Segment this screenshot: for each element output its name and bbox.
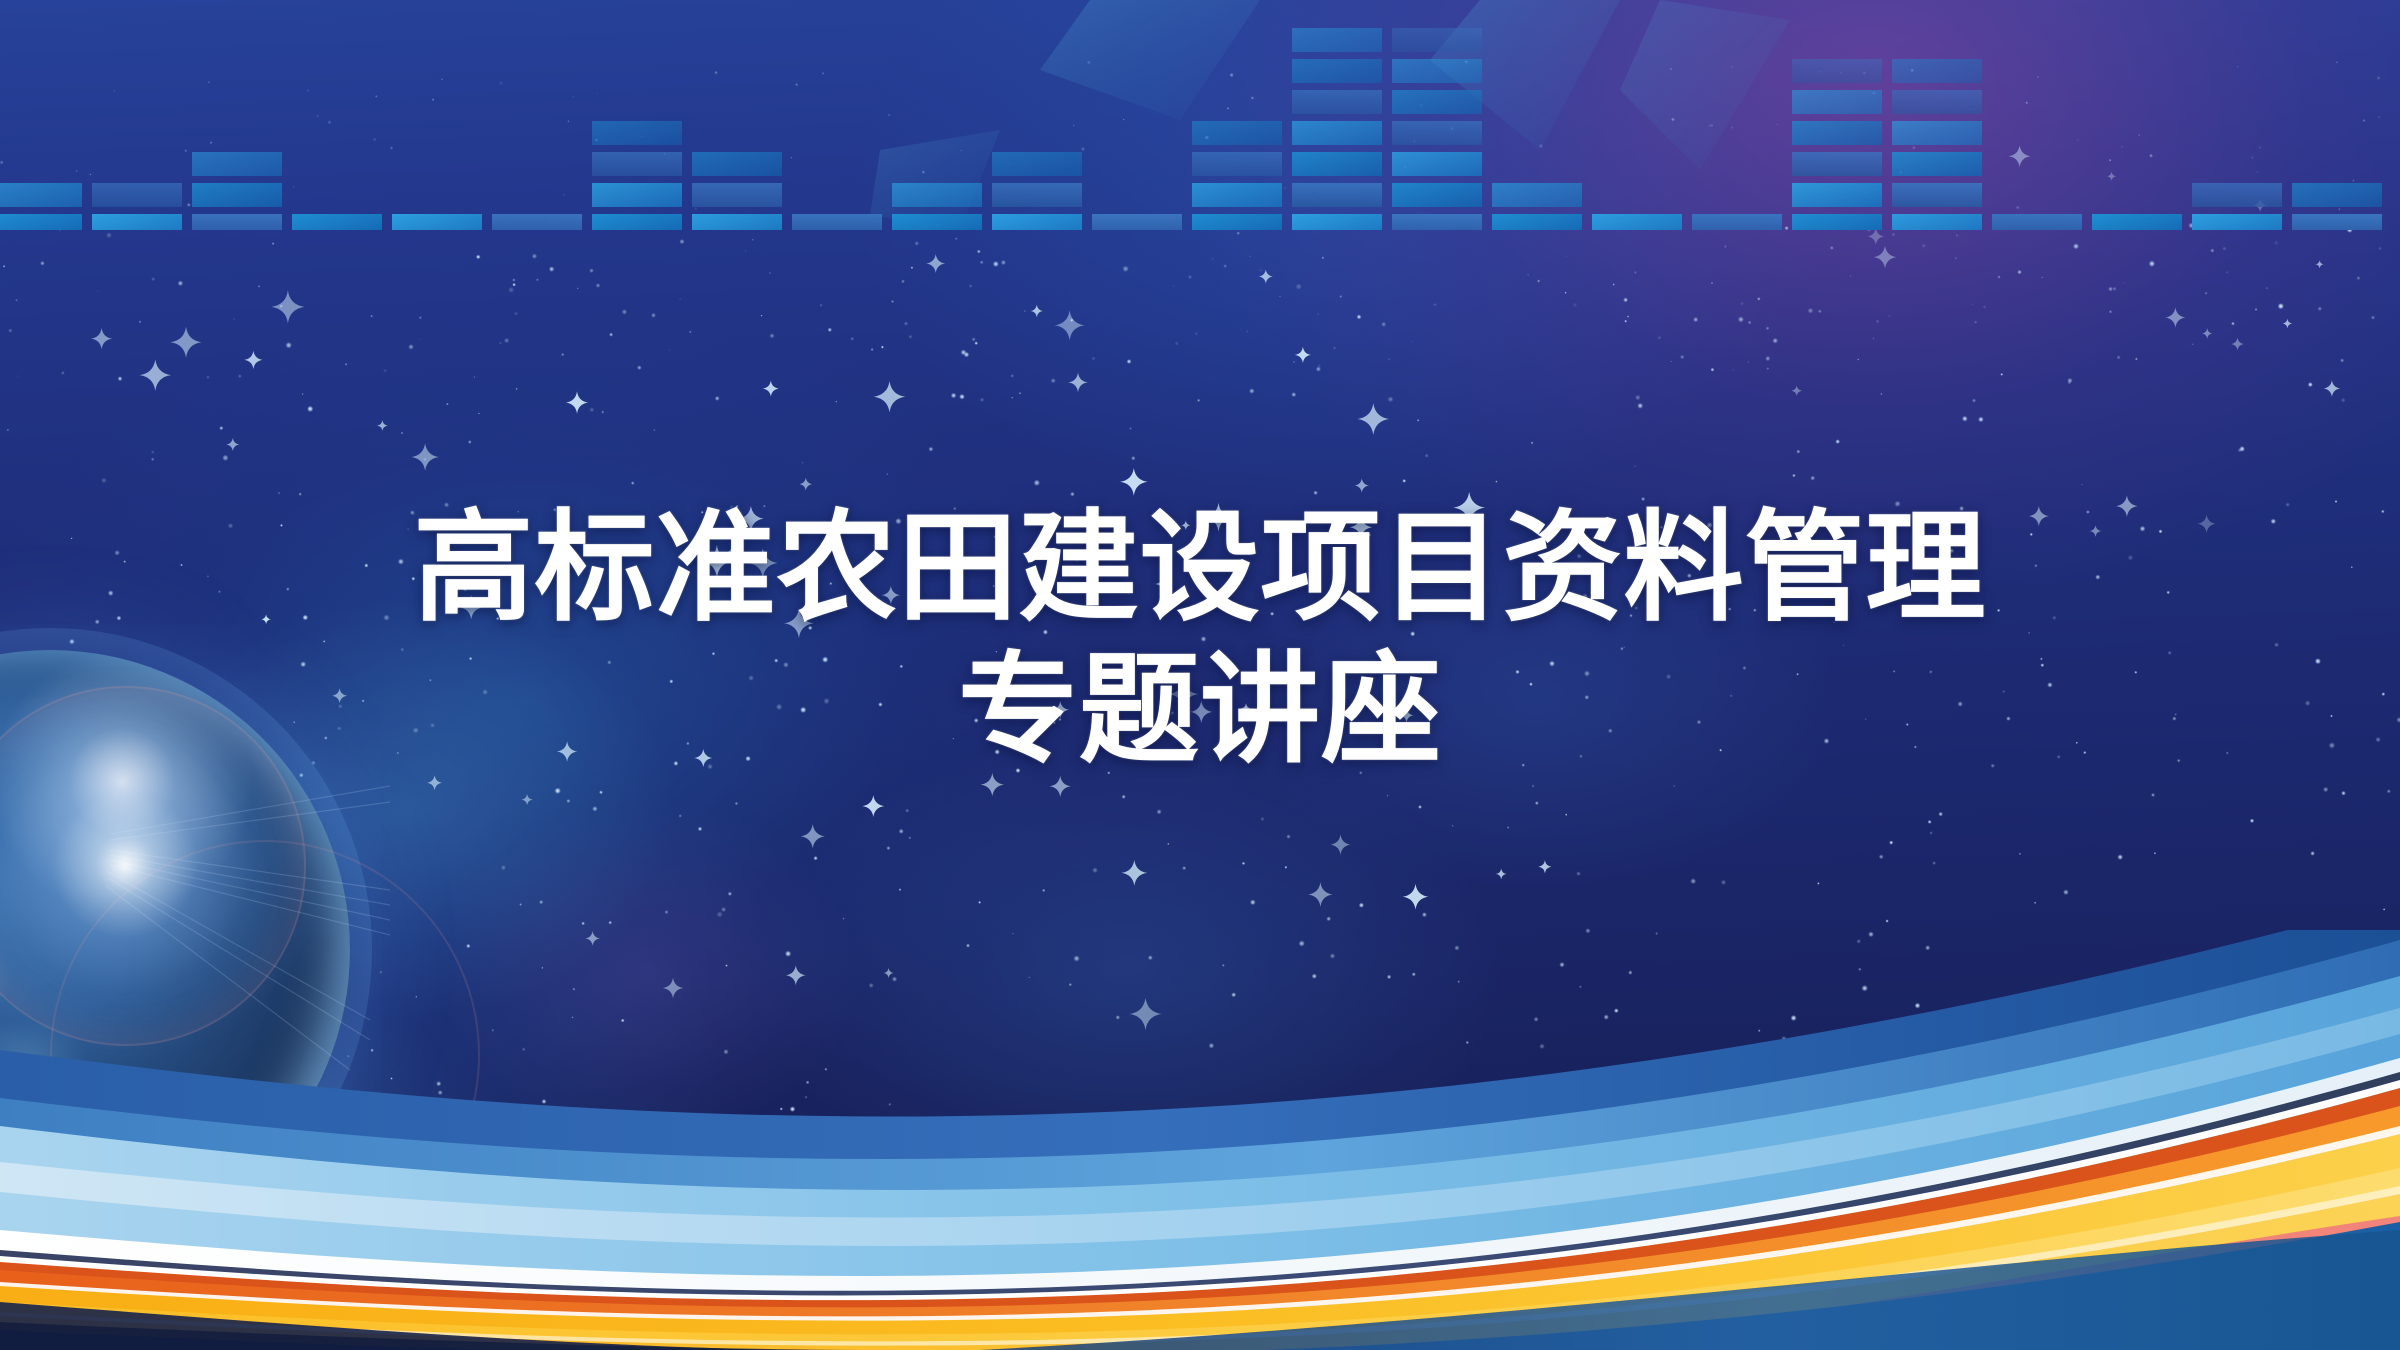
slide-title: 高标准农田建设项目资料管理 专题讲座: [0, 498, 2400, 782]
title-line-2: 专题讲座: [0, 640, 2400, 782]
presentation-slide: 高标准农田建设项目资料管理 专题讲座: [0, 0, 2400, 1350]
digital-equalizer-blocks: [0, 0, 2400, 230]
title-line-1: 高标准农田建设项目资料管理: [0, 498, 2400, 640]
ribbon-wave-band: [0, 930, 2400, 1350]
